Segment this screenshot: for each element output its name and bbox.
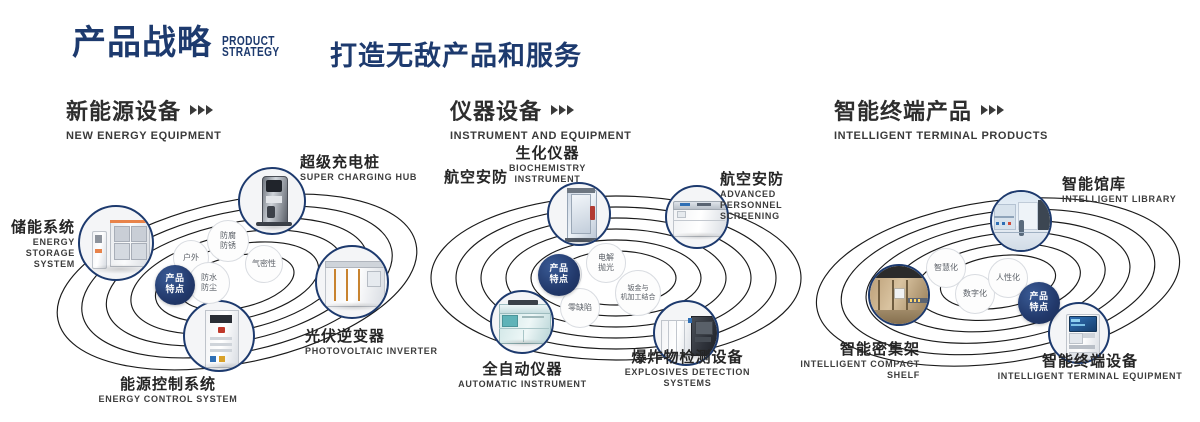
label-cn: 智能终端设备 (990, 352, 1190, 370)
label-en: INTELLIGENT TERMINAL EQUIPMENT (990, 371, 1190, 382)
screening-machine-icon (667, 187, 727, 247)
label-cn: 航空安防 (398, 168, 508, 186)
node-compact-shelf[interactable] (868, 264, 930, 326)
label-cn: 储能系统 (0, 218, 75, 236)
label-en: ENERGY CONTROL SYSTEM (78, 394, 258, 405)
core-line-1: 产品 (549, 264, 568, 275)
chevrons-icon (190, 105, 213, 115)
node-automatic-instrument[interactable] (490, 290, 554, 354)
energy-storage-cabinet-icon (80, 207, 152, 279)
cluster-intelligent-terminal: 智能馆库 INTELLIGENT LIBRARY 智能密集架 INTELLIGE… (800, 160, 1200, 410)
pv-inverter-cabinet-icon (317, 247, 387, 317)
label-intelligent-library: 智能馆库 INTELLIGENT LIBRARY (1062, 175, 1176, 205)
label-terminal-equipment: 智能终端设备 INTELLIGENT TERMINAL EQUIPMENT (990, 352, 1190, 382)
label-cn: 全自动仪器 (440, 360, 605, 378)
section-title-new-energy: 新能源设备 NEW ENERGY EQUIPMENT (66, 94, 221, 142)
control-cabinet-icon (185, 302, 253, 370)
core-bubble-product-features: 产品 特点 (1018, 282, 1060, 324)
label-energy-control: 能源控制系统 ENERGY CONTROL SYSTEM (78, 375, 258, 405)
label-en: INTELLIGENT LIBRARY (1062, 194, 1176, 205)
section-title-cn-1: 仪器设备 (450, 94, 631, 126)
page-header: 产品战略 PRODUCT STRATEGY (72, 26, 296, 60)
label-compact-shelf: 智能密集架 INTELLIGENT COMPACT SHELF (760, 340, 920, 381)
node-energy-storage[interactable] (78, 205, 154, 281)
core-line-2: 特点 (549, 275, 568, 286)
label-en: INTELLIGENT COMPACT SHELF (760, 359, 920, 381)
label-cn: 爆炸物检测设备 (600, 348, 775, 366)
label-en: PHOTOVOLTAIC INVERTER (305, 346, 438, 357)
section-title-cn-2: 智能终端产品 (834, 94, 1048, 126)
section-title-en-1: INSTRUMENT AND EQUIPMENT (450, 130, 631, 142)
section-title-intelligent: 智能终端产品 INTELLIGENT TERMINAL PRODUCTS (834, 94, 1048, 142)
label-en: AUTOMATIC INSTRUMENT (440, 379, 605, 390)
product-strategy-infographic: 产品战略 PRODUCT STRATEGY 打造无敌产品和服务 新能源设备 NE… (0, 0, 1200, 422)
label-en: ENERGY STORAGE SYSTEM (0, 237, 75, 270)
chevrons-icon (551, 105, 574, 115)
section-title-instrument: 仪器设备 INSTRUMENT AND EQUIPMENT (450, 94, 631, 142)
label-cn: 能源控制系统 (78, 375, 258, 393)
page-subtitle: 打造无敌产品和服务 (330, 34, 582, 73)
label-aviation-security-overlap: 航空安防 (398, 168, 508, 186)
feature-bubble-3: 气密性 (245, 245, 283, 283)
section-title-en-0: NEW ENERGY EQUIPMENT (66, 130, 221, 142)
core-line-1: 产品 (165, 274, 184, 285)
node-charging-hub[interactable] (238, 167, 306, 235)
section-title-cn-0: 新能源设备 (66, 94, 221, 126)
cluster-new-energy: 储能系统 ENERGY STORAGE SYSTEM 超级充电桩 SUPER C… (40, 160, 440, 410)
node-biochemistry-instrument[interactable] (547, 182, 611, 246)
node-pv-inverter[interactable] (315, 245, 389, 319)
core-line-2: 特点 (165, 285, 184, 296)
label-automatic-instrument: 全自动仪器 AUTOMATIC INSTRUMENT (440, 360, 605, 390)
section-label-0: 新能源设备 (66, 94, 181, 126)
automatic-instrument-icon (492, 292, 552, 352)
feature-bubble-1: 防腐 防锈 (207, 220, 249, 262)
label-cn: 智能馆库 (1062, 175, 1176, 193)
feature-bubble-3: 钣金与 机加工结合 (615, 270, 661, 316)
label-en: EXPLOSIVES DETECTION SYSTEMS (600, 367, 775, 389)
biochemistry-scanner-icon (549, 184, 609, 244)
core-bubble-product-features: 产品 特点 (538, 254, 580, 296)
label-pv-inverter: 光伏逆变器 PHOTOVOLTAIC INVERTER (305, 327, 438, 357)
label-cn: 智能密集架 (760, 340, 920, 358)
node-intelligent-library[interactable] (990, 190, 1052, 252)
section-label-1: 仪器设备 (450, 94, 542, 126)
core-line-2: 特点 (1029, 303, 1048, 314)
chevrons-icon (981, 105, 1004, 115)
label-explosives-detector: 爆炸物检测设备 EXPLOSIVES DETECTION SYSTEMS (600, 348, 775, 389)
node-energy-control[interactable] (183, 300, 255, 372)
label-cn: 生化仪器 (480, 144, 615, 162)
section-label-2: 智能终端产品 (834, 94, 972, 126)
library-interior-icon (992, 192, 1050, 250)
page-title: 产品战略 (72, 26, 212, 60)
label-energy-storage: 储能系统 ENERGY STORAGE SYSTEM (0, 218, 75, 270)
core-bubble-product-features: 产品 特点 (155, 265, 195, 305)
charging-pile-icon (240, 169, 304, 233)
core-line-1: 产品 (1029, 292, 1048, 303)
section-title-en-2: INTELLIGENT TERMINAL PRODUCTS (834, 130, 1048, 142)
compact-shelf-icon (870, 266, 928, 324)
page-title-en: PRODUCT STRATEGY (222, 35, 280, 57)
label-cn: 光伏逆变器 (305, 327, 438, 345)
